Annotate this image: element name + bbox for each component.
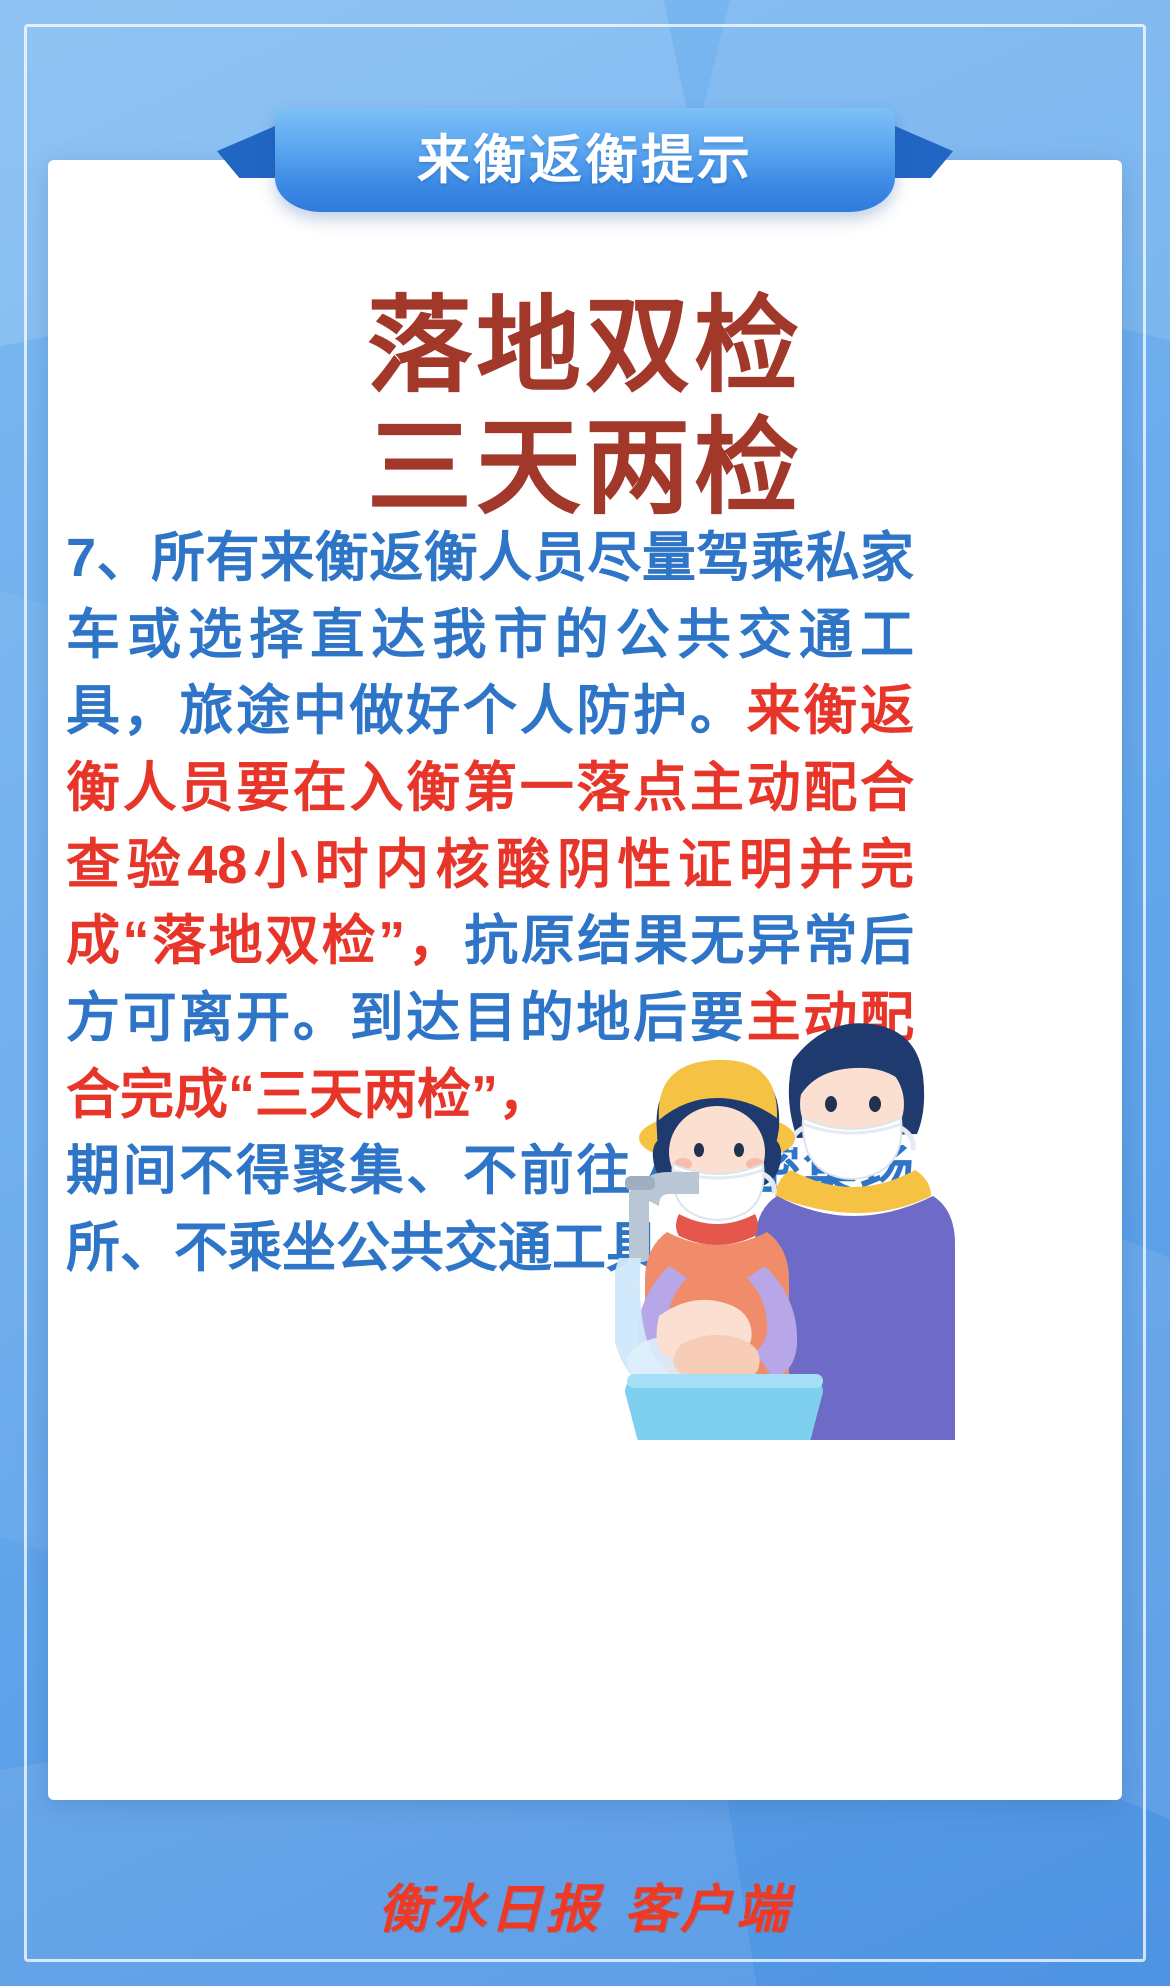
banner-ribbon: 来衡返衡提示 [275, 108, 895, 212]
headline: 落地双检 三天两检 [0, 286, 1170, 530]
illustration-children-washing-hands [615, 1000, 955, 1440]
banner-body: 来衡返衡提示 [275, 108, 895, 212]
poster-root: 来衡返衡提示 落地双检 三天两检 7、所有来衡返衡人员尽量驾乘私家车或选择直达我… [0, 0, 1170, 1986]
brand-footer: 衡水日报 客户端 [0, 1867, 1170, 1942]
banner-wrapper: 来衡返衡提示 [0, 108, 1170, 228]
banner-title: 来衡返衡提示 [417, 134, 753, 187]
sink-basin-icon [625, 1374, 823, 1440]
headline-line-1: 落地双检 [0, 286, 1170, 408]
brand-text: 衡水日报 客户端 [378, 1879, 792, 1940]
headline-line-2: 三天两检 [0, 408, 1170, 530]
